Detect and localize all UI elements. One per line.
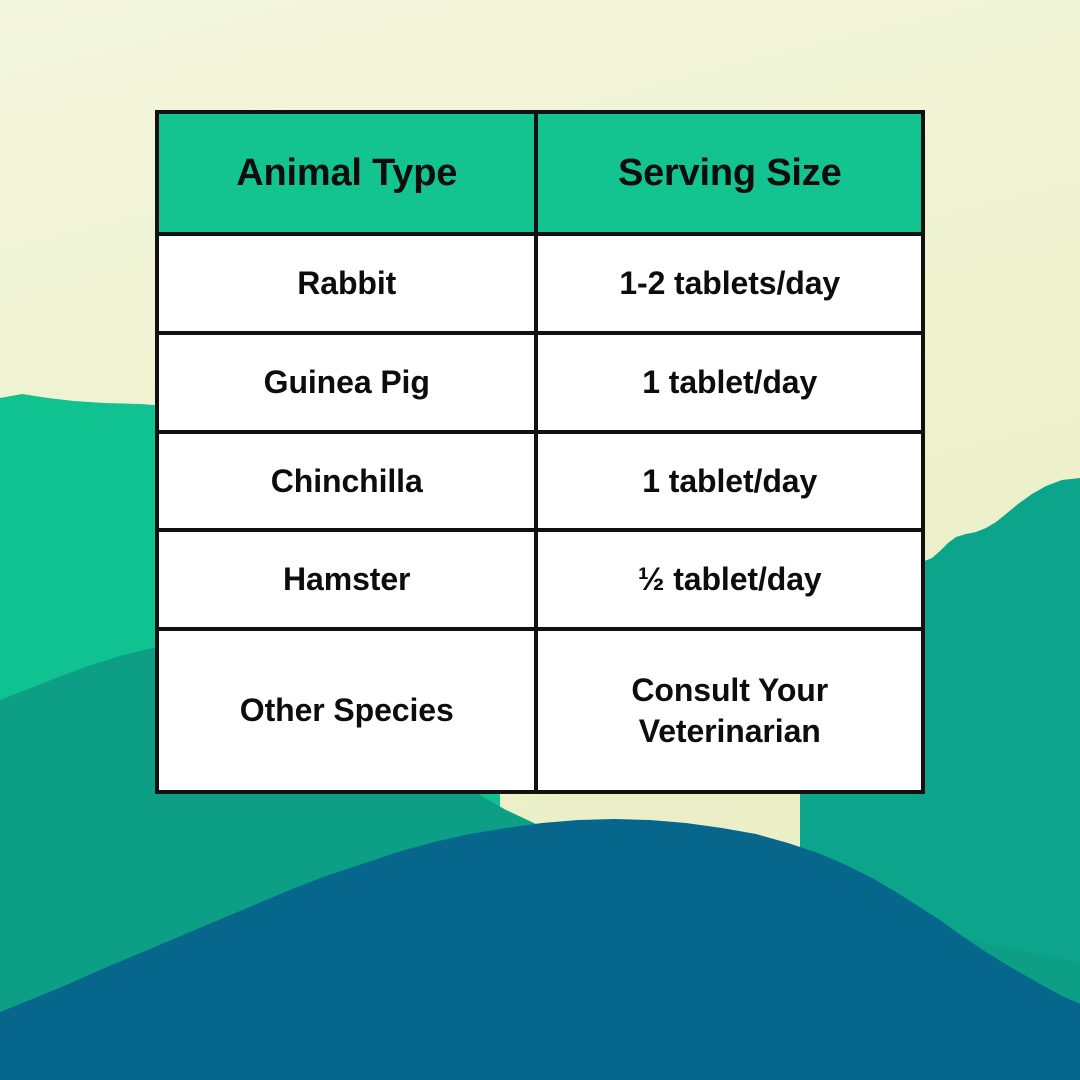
table-row: Hamster ½ tablet/day <box>159 532 921 631</box>
table-row: Other Species Consult Your Veterinarian <box>159 631 921 790</box>
table-row: Rabbit 1-2 tablets/day <box>159 236 921 335</box>
cell-animal-type: Rabbit <box>159 236 538 335</box>
cell-animal-type: Chinchilla <box>159 434 538 533</box>
table-row: Guinea Pig 1 tablet/day <box>159 335 921 434</box>
cell-animal-type: Other Species <box>159 631 538 790</box>
table-header-row: Animal Type Serving Size <box>159 114 921 236</box>
cell-serving-size-line: Consult Your <box>548 670 911 711</box>
column-header-animal-type: Animal Type <box>159 114 538 236</box>
table-row: Chinchilla 1 tablet/day <box>159 434 921 533</box>
poster-canvas: Animal Type Serving Size Rabbit 1-2 tabl… <box>0 0 1080 1080</box>
cell-serving-size: 1-2 tablets/day <box>538 236 921 335</box>
cell-animal-type: Hamster <box>159 532 538 631</box>
cell-animal-type: Guinea Pig <box>159 335 538 434</box>
table-header: Animal Type Serving Size <box>159 114 921 236</box>
cell-serving-size: 1 tablet/day <box>538 335 921 434</box>
cell-serving-size: 1 tablet/day <box>538 434 921 533</box>
cell-serving-size-line: Veterinarian <box>548 711 911 752</box>
dosage-table-container: Animal Type Serving Size Rabbit 1-2 tabl… <box>155 110 925 794</box>
cell-serving-size: ½ tablet/day <box>538 532 921 631</box>
cell-serving-size: Consult Your Veterinarian <box>538 631 921 790</box>
table-body: Rabbit 1-2 tablets/day Guinea Pig 1 tabl… <box>159 236 921 790</box>
column-header-serving-size: Serving Size <box>538 114 921 236</box>
serving-size-table: Animal Type Serving Size Rabbit 1-2 tabl… <box>155 110 925 794</box>
